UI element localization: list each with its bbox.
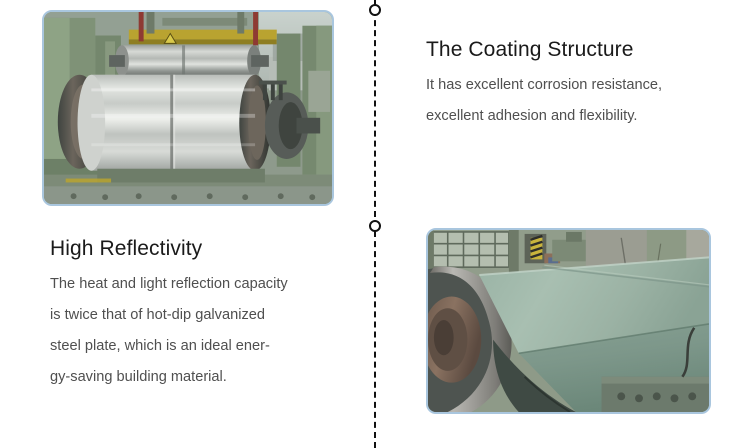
- infographic-canvas: The Coating Structure It has excellent c…: [0, 0, 750, 448]
- high-reflectivity-body-line-3: steel plate, which is an ideal ener-: [50, 331, 342, 362]
- coating-structure-body-line-2: excellent adhesion and flexibility.: [426, 101, 726, 132]
- section-coating-structure: The Coating Structure It has excellent c…: [426, 36, 726, 132]
- photo-green-coated-coil-art: [428, 230, 709, 412]
- high-reflectivity-body-line-4: gy-saving building material.: [50, 362, 342, 393]
- high-reflectivity-body-line-1: The heat and light reflection capacity: [50, 269, 342, 300]
- photo-green-coated-coil: [426, 228, 711, 414]
- coating-structure-body-line-1: It has excellent corrosion resistance,: [426, 70, 726, 101]
- timeline-node-top: [369, 4, 381, 16]
- section-high-reflectivity: High Reflectivity The heat and light ref…: [50, 235, 342, 393]
- photo-steel-coil-mill: [42, 10, 334, 206]
- timeline: [367, 0, 383, 448]
- high-reflectivity-body-line-2: is twice that of hot-dip galvanized: [50, 300, 342, 331]
- coating-structure-heading: The Coating Structure: [426, 36, 726, 64]
- photo-steel-coil-mill-art: [44, 12, 332, 204]
- timeline-node-middle: [369, 220, 381, 232]
- high-reflectivity-heading: High Reflectivity: [50, 235, 342, 263]
